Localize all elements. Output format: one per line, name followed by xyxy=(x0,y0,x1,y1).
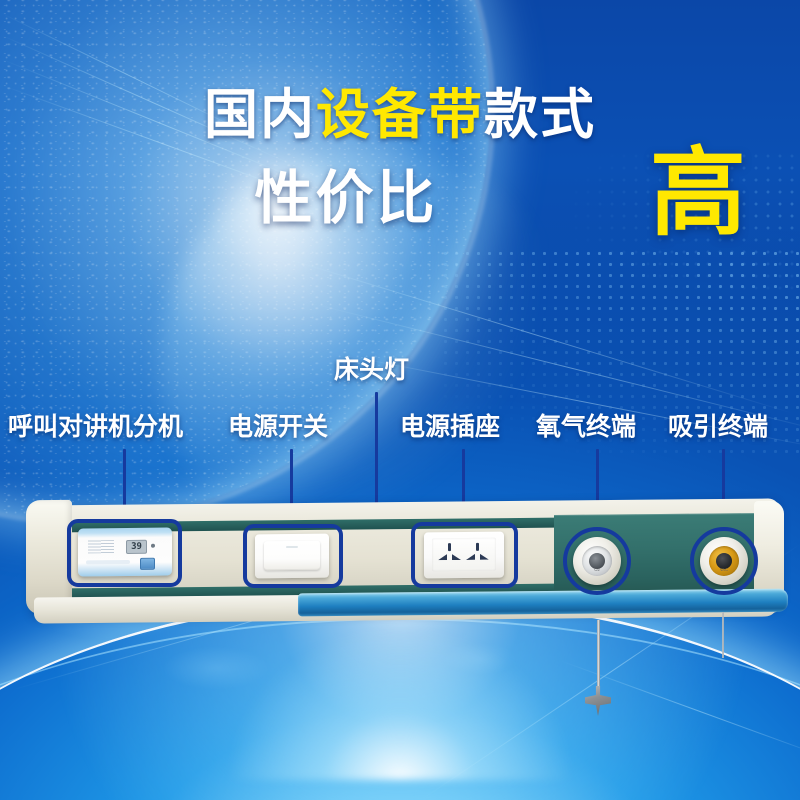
highlight-suction xyxy=(690,527,758,595)
callout-label-suction-terminal: 吸引终端 xyxy=(668,415,768,440)
pull-cord[interactable] xyxy=(597,620,600,694)
callout-label-bed-lamp: 床头灯 xyxy=(334,358,409,383)
callout-label-power-switch: 电源开关 xyxy=(228,415,328,440)
highlight-switch xyxy=(243,524,343,588)
highlight-socket xyxy=(411,522,518,588)
highlight-oxygen xyxy=(563,527,631,595)
highlight-intercom xyxy=(67,519,182,587)
callout-label-nurse-call-intercom: 呼叫对讲机分机 xyxy=(8,415,183,440)
promo-banner: 国内设备带款式 性价比 高 呼叫对讲机分机电源开关床头灯电源插座氧气终端吸引终端… xyxy=(0,0,800,800)
callout-layer: 呼叫对讲机分机电源开关床头灯电源插座氧气终端吸引终端 xyxy=(0,0,800,800)
callout-label-power-socket: 电源插座 xyxy=(400,415,500,440)
pull-cord-secondary[interactable] xyxy=(722,612,724,658)
callout-label-oxygen-terminal: 氧气终端 xyxy=(536,415,636,440)
